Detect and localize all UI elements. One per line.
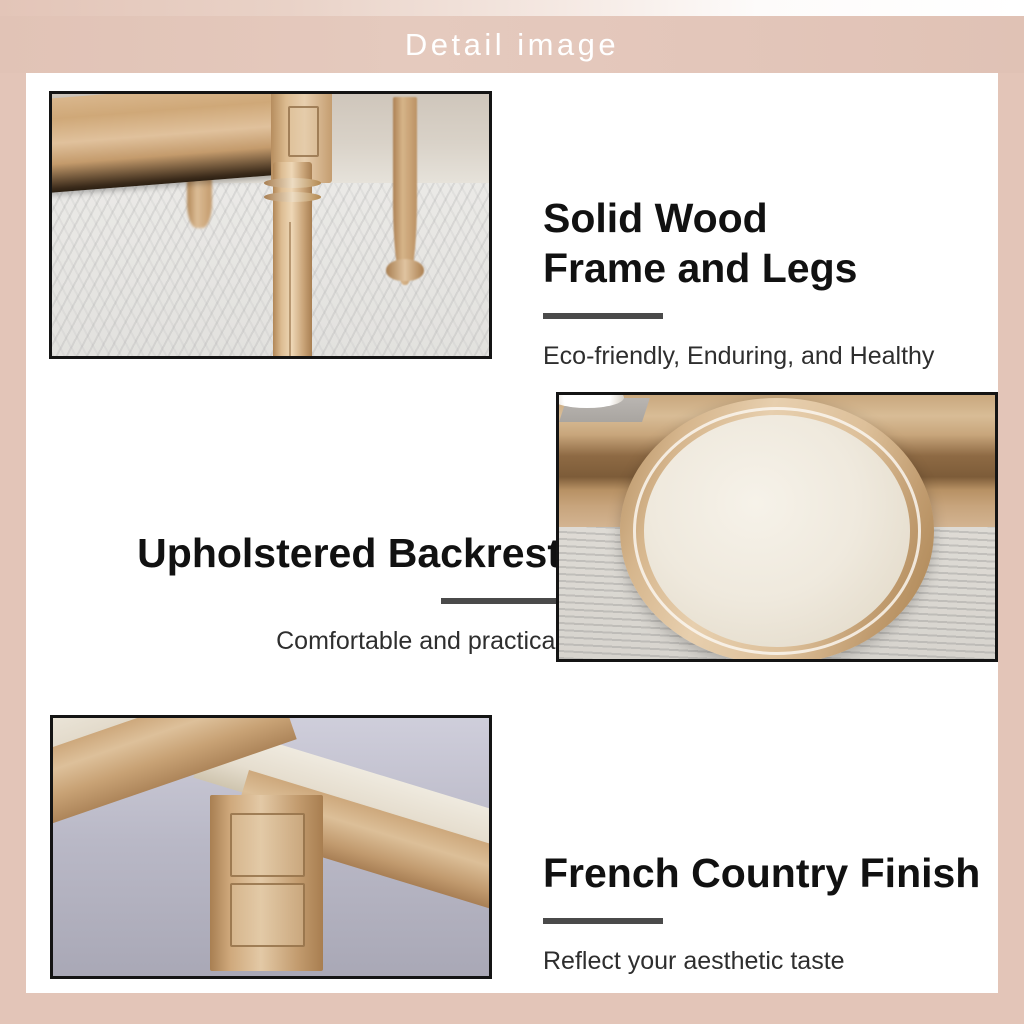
carved-panel-upper — [230, 813, 304, 877]
french-country-headline-line1: French Country Finish — [543, 848, 980, 898]
photo-backrest-artwork — [559, 395, 995, 659]
page-header-band: Detail image — [0, 16, 1024, 73]
page-title: Detail image — [405, 29, 619, 60]
leg-ring-lower — [264, 192, 321, 202]
content-card: Solid Wood Frame and Legs Eco-friendly, … — [26, 73, 998, 993]
solid-wood-divider — [543, 313, 663, 319]
upholstered-divider — [441, 598, 561, 604]
leg-ring-upper — [264, 178, 321, 188]
chair-leg-front — [273, 162, 312, 359]
section-solid-wood-text: Solid Wood Frame and Legs Eco-friendly, … — [543, 193, 934, 372]
leg-flute-groove — [289, 222, 291, 357]
carved-corner-post — [210, 795, 323, 970]
section-upholstered-backrest-text: Upholstered Backrest Comfortable and pra… — [71, 528, 561, 657]
upholstered-pad — [644, 415, 911, 647]
french-country-divider — [543, 918, 663, 924]
photo-seat-corner-artwork — [53, 718, 489, 976]
upholstered-headline-line1: Upholstered Backrest — [71, 528, 561, 578]
solid-wood-headline-line1: Solid Wood — [543, 193, 934, 243]
photo-oval-upholstered-backrest[interactable] — [556, 392, 998, 662]
photo-chair-legs-artwork — [52, 94, 489, 356]
french-country-subline: Reflect your aesthetic taste — [543, 946, 980, 977]
photo-seat-corner-detail[interactable] — [50, 715, 492, 979]
carved-panel-lower — [230, 883, 304, 947]
solid-wood-headline-line2: Frame and Legs — [543, 243, 934, 293]
leg-turned-knob — [386, 259, 424, 282]
top-gradient-strip — [0, 0, 1024, 16]
solid-wood-subline: Eco-friendly, Enduring, and Healthy — [543, 341, 934, 372]
upholstered-subline: Comfortable and practical — [71, 626, 561, 657]
section-french-country-text: French Country Finish Reflect your aesth… — [543, 848, 980, 977]
photo-chair-legs-on-rug[interactable] — [49, 91, 492, 359]
chair-leg-right — [393, 97, 417, 286]
oval-wood-frame — [620, 398, 934, 662]
